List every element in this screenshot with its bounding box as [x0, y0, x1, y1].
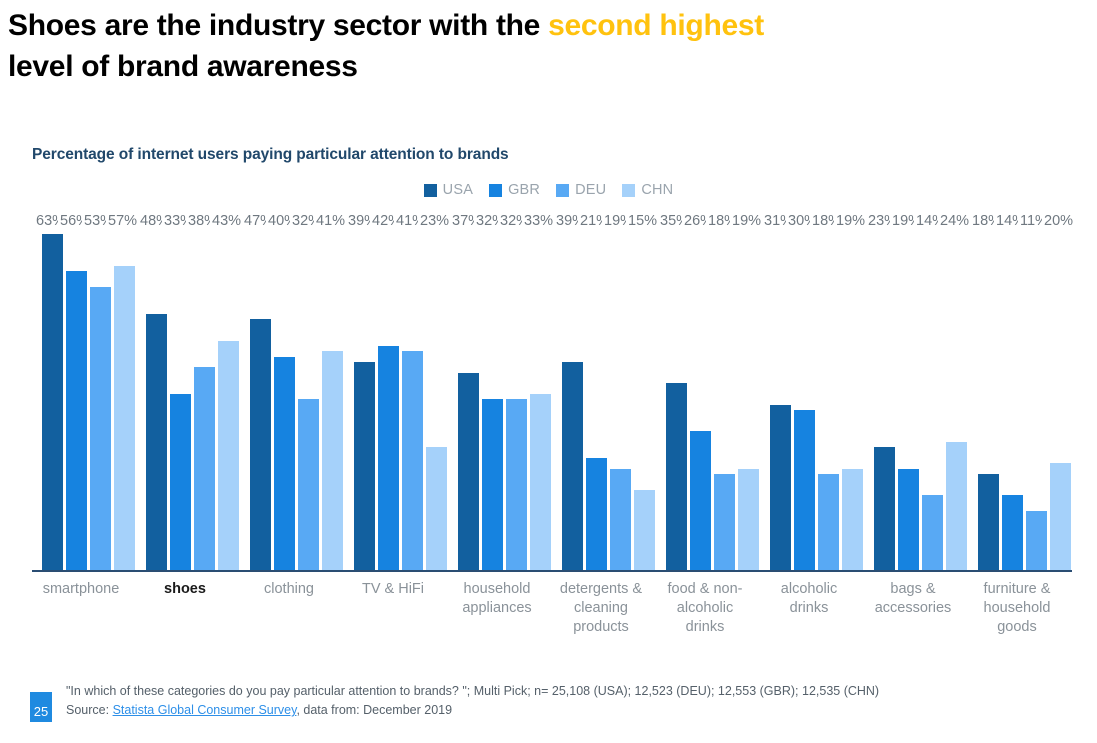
bar-rect: 26%	[690, 431, 711, 570]
bar-value-label: 19%	[834, 214, 867, 230]
bar-rect: 32%	[506, 399, 527, 570]
bar-group: 47%40%32%41%	[250, 230, 343, 570]
x-axis-label: food & non-alcoholic drinks	[657, 580, 753, 637]
bar-group: 39%21%19%15%	[562, 230, 655, 570]
source-link[interactable]: Statista Global Consumer Survey	[113, 703, 297, 717]
legend-swatch-icon	[622, 184, 635, 197]
source-suffix: , data from: December 2019	[296, 703, 452, 717]
bar-chn[interactable]: 57%	[114, 230, 135, 570]
bar-gbr[interactable]: 14%	[1002, 230, 1023, 570]
chart-container: Percentage of internet users paying part…	[0, 132, 1097, 662]
bar-usa[interactable]: 48%	[146, 230, 167, 570]
bar-rect: 48%	[146, 314, 167, 570]
bar-value-label: 57%	[106, 214, 139, 230]
bar-deu[interactable]: 32%	[298, 230, 319, 570]
bar-rect: 32%	[298, 399, 319, 570]
legend-item-chn[interactable]: CHN	[622, 182, 673, 198]
bar-group: 18%14%11%20%	[978, 230, 1071, 570]
bar-rect: 57%	[114, 266, 135, 570]
bar-group: 23%19%14%24%	[874, 230, 967, 570]
bar-deu[interactable]: 14%	[922, 230, 943, 570]
bar-rect: 19%	[898, 469, 919, 570]
bar-rect: 63%	[42, 234, 63, 570]
legend-item-gbr[interactable]: GBR	[489, 182, 540, 198]
bar-rect: 14%	[922, 495, 943, 570]
bar-rect: 19%	[610, 469, 631, 570]
bar-chn[interactable]: 19%	[842, 230, 863, 570]
bar-value-label: 43%	[210, 214, 243, 230]
bar-chn[interactable]: 43%	[218, 230, 239, 570]
legend-label: DEU	[575, 182, 606, 198]
bar-usa[interactable]: 39%	[354, 230, 375, 570]
x-axis-label: clothing	[241, 580, 337, 599]
bar-value-label: 15%	[626, 214, 659, 230]
bar-usa[interactable]: 39%	[562, 230, 583, 570]
headline-part2: level of brand awareness	[8, 50, 358, 83]
bar-group: 48%33%38%43%	[146, 230, 239, 570]
bar-rect: 53%	[90, 287, 111, 570]
bar-rect: 14%	[1002, 495, 1023, 570]
bar-rect: 41%	[402, 351, 423, 570]
bar-usa[interactable]: 47%	[250, 230, 271, 570]
bar-rect: 32%	[482, 399, 503, 570]
bar-rect: 37%	[458, 373, 479, 570]
bar-gbr[interactable]: 32%	[482, 230, 503, 570]
bar-group: 37%32%32%33%	[458, 230, 551, 570]
bar-value-label: 24%	[938, 214, 971, 230]
bar-chn[interactable]: 15%	[634, 230, 655, 570]
headline-accent: second highest	[548, 9, 764, 42]
bar-rect: 33%	[530, 394, 551, 570]
bar-value-label: 33%	[522, 214, 555, 230]
bar-rect: 35%	[666, 383, 687, 570]
bar-usa[interactable]: 37%	[458, 230, 479, 570]
bar-value-label: 19%	[730, 214, 763, 230]
bar-group: 63%56%53%57%	[42, 230, 135, 570]
bar-rect: 41%	[322, 351, 343, 570]
bar-gbr[interactable]: 33%	[170, 230, 191, 570]
bar-gbr[interactable]: 30%	[794, 230, 815, 570]
plot-area: 63%56%53%57%48%33%38%43%47%40%32%41%39%4…	[0, 204, 1097, 572]
bar-gbr[interactable]: 40%	[274, 230, 295, 570]
bar-rect: 19%	[842, 469, 863, 570]
footer-source: Source: Statista Global Consumer Survey,…	[66, 701, 1066, 720]
page-number-badge: 25	[30, 692, 52, 722]
legend-swatch-icon	[489, 184, 502, 197]
bar-usa[interactable]: 18%	[978, 230, 999, 570]
chart-legend: USAGBRDEUCHN	[0, 182, 1097, 198]
x-axis-labels: smartphoneshoesclothingTV & HiFihousehol…	[0, 580, 1097, 650]
bar-rect: 47%	[250, 319, 271, 570]
bar-gbr[interactable]: 19%	[898, 230, 919, 570]
bar-rect: 56%	[66, 271, 87, 570]
bar-deu[interactable]: 53%	[90, 230, 111, 570]
source-prefix: Source:	[66, 703, 113, 717]
bar-rect: 30%	[794, 410, 815, 570]
bar-deu[interactable]: 19%	[610, 230, 631, 570]
x-axis-label: shoes	[137, 580, 233, 599]
x-axis-label: smartphone	[33, 580, 129, 599]
bar-rect: 42%	[378, 346, 399, 570]
legend-label: GBR	[508, 182, 540, 198]
bar-gbr[interactable]: 56%	[66, 230, 87, 570]
bar-rect: 20%	[1050, 463, 1071, 570]
bar-group: 39%42%41%23%	[354, 230, 447, 570]
bar-group: 31%30%18%19%	[770, 230, 863, 570]
bar-chn[interactable]: 20%	[1050, 230, 1071, 570]
bar-deu[interactable]: 18%	[714, 230, 735, 570]
x-axis-label: furniture & household goods	[969, 580, 1065, 637]
chart-title: Percentage of internet users paying part…	[32, 146, 509, 164]
bar-gbr[interactable]: 26%	[690, 230, 711, 570]
bar-rect: 40%	[274, 357, 295, 570]
footer-question: "In which of these categories do you pay…	[66, 682, 1066, 701]
bar-rect: 31%	[770, 405, 791, 570]
slide: Shoes are the industry sector with the s…	[0, 0, 1097, 743]
bar-value-label: 23%	[418, 214, 451, 230]
bar-rect: 23%	[874, 447, 895, 570]
bar-usa[interactable]: 35%	[666, 230, 687, 570]
bar-gbr[interactable]: 42%	[378, 230, 399, 570]
x-axis-label: alcoholic drinks	[761, 580, 857, 618]
legend-item-usa[interactable]: USA	[424, 182, 473, 198]
bar-group: 35%26%18%19%	[666, 230, 759, 570]
x-axis-label: household appliances	[449, 580, 545, 618]
legend-label: USA	[443, 182, 473, 198]
legend-swatch-icon	[556, 184, 569, 197]
bar-gbr[interactable]: 21%	[586, 230, 607, 570]
bar-rect: 38%	[194, 367, 215, 570]
bar-chn[interactable]: 33%	[530, 230, 551, 570]
bar-rect: 21%	[586, 458, 607, 570]
bar-chn[interactable]: 41%	[322, 230, 343, 570]
x-axis-label: detergents & cleaning products	[553, 580, 649, 637]
bar-rect: 18%	[978, 474, 999, 570]
bar-value-label: 20%	[1042, 214, 1075, 230]
bar-chn[interactable]: 23%	[426, 230, 447, 570]
bar-rect: 19%	[738, 469, 759, 570]
bar-usa[interactable]: 23%	[874, 230, 895, 570]
footer-note: "In which of these categories do you pay…	[66, 682, 1066, 721]
bar-usa[interactable]: 31%	[770, 230, 791, 570]
bar-deu[interactable]: 11%	[1026, 230, 1047, 570]
bar-rect: 23%	[426, 447, 447, 570]
bar-rect: 43%	[218, 341, 239, 570]
legend-item-deu[interactable]: DEU	[556, 182, 606, 198]
bar-deu[interactable]: 18%	[818, 230, 839, 570]
x-axis-label: TV & HiFi	[345, 580, 441, 599]
bar-rect: 15%	[634, 490, 655, 570]
bar-rect: 18%	[818, 474, 839, 570]
bar-chn[interactable]: 19%	[738, 230, 759, 570]
x-axis-label: bags & accessories	[865, 580, 961, 618]
bar-rect: 18%	[714, 474, 735, 570]
bar-rect: 24%	[946, 442, 967, 570]
bar-chn[interactable]: 24%	[946, 230, 967, 570]
bar-rect: 33%	[170, 394, 191, 570]
bar-rect: 39%	[354, 362, 375, 570]
bar-deu[interactable]: 32%	[506, 230, 527, 570]
bar-deu[interactable]: 38%	[194, 230, 215, 570]
page-title: Shoes are the industry sector with the s…	[8, 6, 1068, 87]
bar-value-label: 41%	[314, 214, 347, 230]
bar-rect: 11%	[1026, 511, 1047, 570]
legend-swatch-icon	[424, 184, 437, 197]
bar-rect: 39%	[562, 362, 583, 570]
legend-label: CHN	[641, 182, 673, 198]
x-axis-line	[32, 570, 1072, 572]
bar-usa[interactable]: 63%	[42, 230, 63, 570]
bar-deu[interactable]: 41%	[402, 230, 423, 570]
headline-part1: Shoes are the industry sector with the	[8, 9, 548, 42]
